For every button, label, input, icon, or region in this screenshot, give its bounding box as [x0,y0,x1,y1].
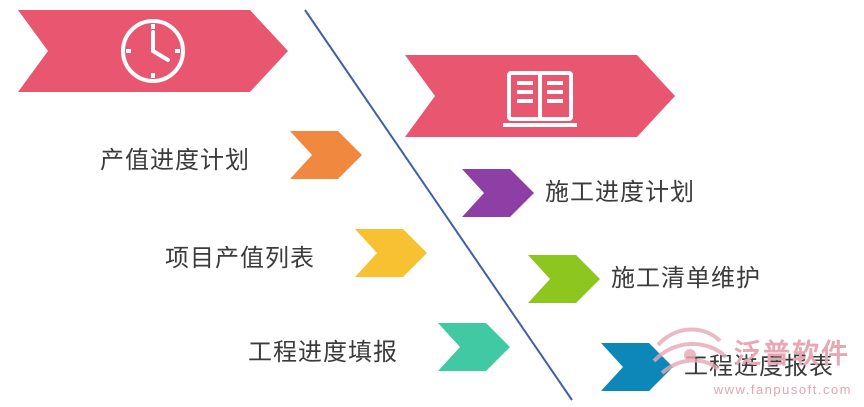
diagram-canvas: 产值进度计划 项目产值列表 工程进度填报 施工进度计划 施工清单维护 工程进度报… [0,0,864,407]
left-item-label-2: 项目产值列表 [165,238,315,273]
arrow-yellow[interactable] [355,229,427,277]
clock-banner[interactable] [18,10,288,92]
arrow-purple[interactable] [462,169,534,217]
arrow-teal[interactable] [438,323,510,371]
right-item-label-1: 施工进度计划 [545,172,695,207]
book-banner[interactable] [405,55,675,137]
right-item-label-2: 施工清单维护 [611,258,761,293]
left-item-label-3: 工程进度填报 [248,332,398,367]
arrow-green[interactable] [528,255,600,303]
watermark-brand: 泛普软件 [734,332,850,371]
left-item-label-1: 产值进度计划 [100,140,250,175]
arrow-blue[interactable] [601,343,673,391]
arrow-orange[interactable] [290,131,362,179]
watermark-url: www.fanpusoft.com [714,382,852,397]
